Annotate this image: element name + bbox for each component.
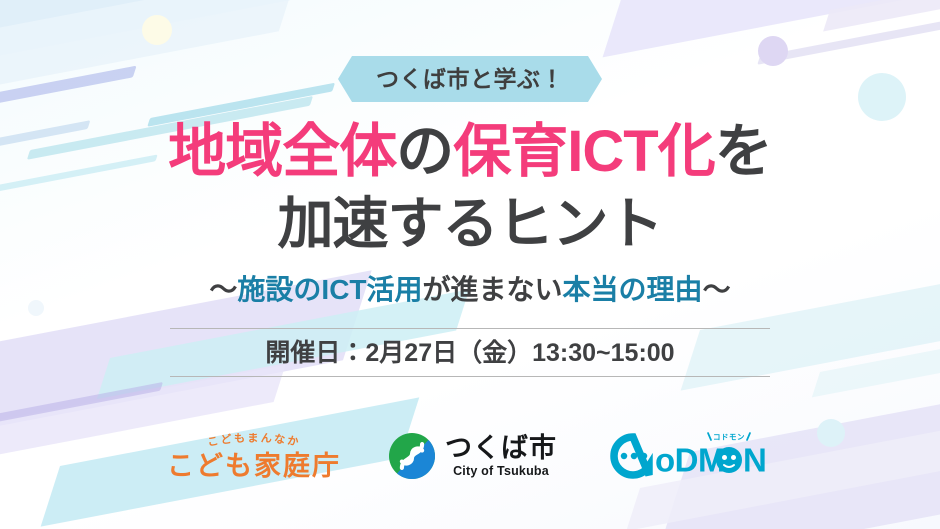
logo-city-of-tsukuba: つくば市 City of Tsukuba (389, 433, 557, 479)
headline-segment-suru: する (388, 192, 498, 255)
codmon-wordmark: oDM N コドモン (605, 430, 773, 482)
logo-codmon: oDM N コドモン (605, 430, 773, 482)
headline-line-2: 加速するヒント (0, 196, 940, 252)
event-date-text: 開催日：2月27日（金）13:30~15:00 (170, 329, 770, 376)
subtitle-tilde-right: 〜 (703, 274, 731, 305)
badge-container: つくば市と学ぶ！ (0, 56, 940, 102)
tsukuba-text-en: City of Tsukuba (453, 464, 549, 478)
headline-segment-wo: を (715, 119, 772, 184)
logo-row: こどもまんなか こども家庭庁 つくば市 City of Tsukub (0, 418, 940, 494)
headline-segment-kasoku: 加速 (278, 192, 388, 255)
badge-label: つくば市と学ぶ！ (376, 68, 564, 91)
codmon-o-face (716, 447, 742, 473)
codmon-letters: oDM (655, 442, 725, 479)
banner-canvas: つくば市と学ぶ！ 地域全体の保育ICT化を 加速するヒント 〜施設のICT活用が… (0, 0, 940, 529)
headline-line-1: 地域全体の保育ICT化を (0, 123, 940, 181)
kodomo-ruby-arc: こどもまんなか (179, 433, 329, 453)
event-badge: つくば市と学ぶ！ (338, 56, 602, 102)
event-date-block: 開催日：2月27日（金）13:30~15:00 (170, 328, 770, 377)
headline-segment-hoiku-ict: 保育ICT化 (453, 119, 714, 184)
tsukuba-swirl-mark (389, 433, 435, 479)
deco-stripe-17 (812, 303, 940, 397)
codmon-c-glyph (614, 437, 649, 475)
date-rule-bottom (170, 376, 770, 377)
tsukuba-text-jp: つくば市 (445, 434, 557, 462)
subtitle-segment-shisetsu: 施設のICT活用 (237, 274, 422, 305)
tsukuba-text-block: つくば市 City of Tsukuba (445, 434, 557, 477)
codmon-letter-n: N (743, 442, 767, 479)
subtitle-segment-susumanai: が進まない (423, 274, 563, 305)
headline-segment-no: の (396, 119, 453, 184)
headline-segment-chiiki: 地域全体 (168, 119, 396, 184)
kodomo-main-text: こども家庭庁 (167, 453, 341, 480)
deco-stripe-9 (823, 0, 940, 32)
subtitle-tilde-left: 〜 (209, 274, 237, 305)
subtitle: 〜施設のICT活用が進まない本当の理由〜 (0, 276, 940, 304)
deco-circle-cream (142, 15, 172, 45)
headline-segment-hint: ヒント (498, 192, 663, 255)
svg-text:こどもまんなか: こどもまんなか (207, 433, 302, 449)
codmon-ruby-text: コドモン (713, 433, 745, 442)
subtitle-segment-hontou: 本当の理由 (563, 274, 703, 305)
logo-kodomo-katei-cho: こどもまんなか こども家庭庁 (167, 433, 341, 480)
